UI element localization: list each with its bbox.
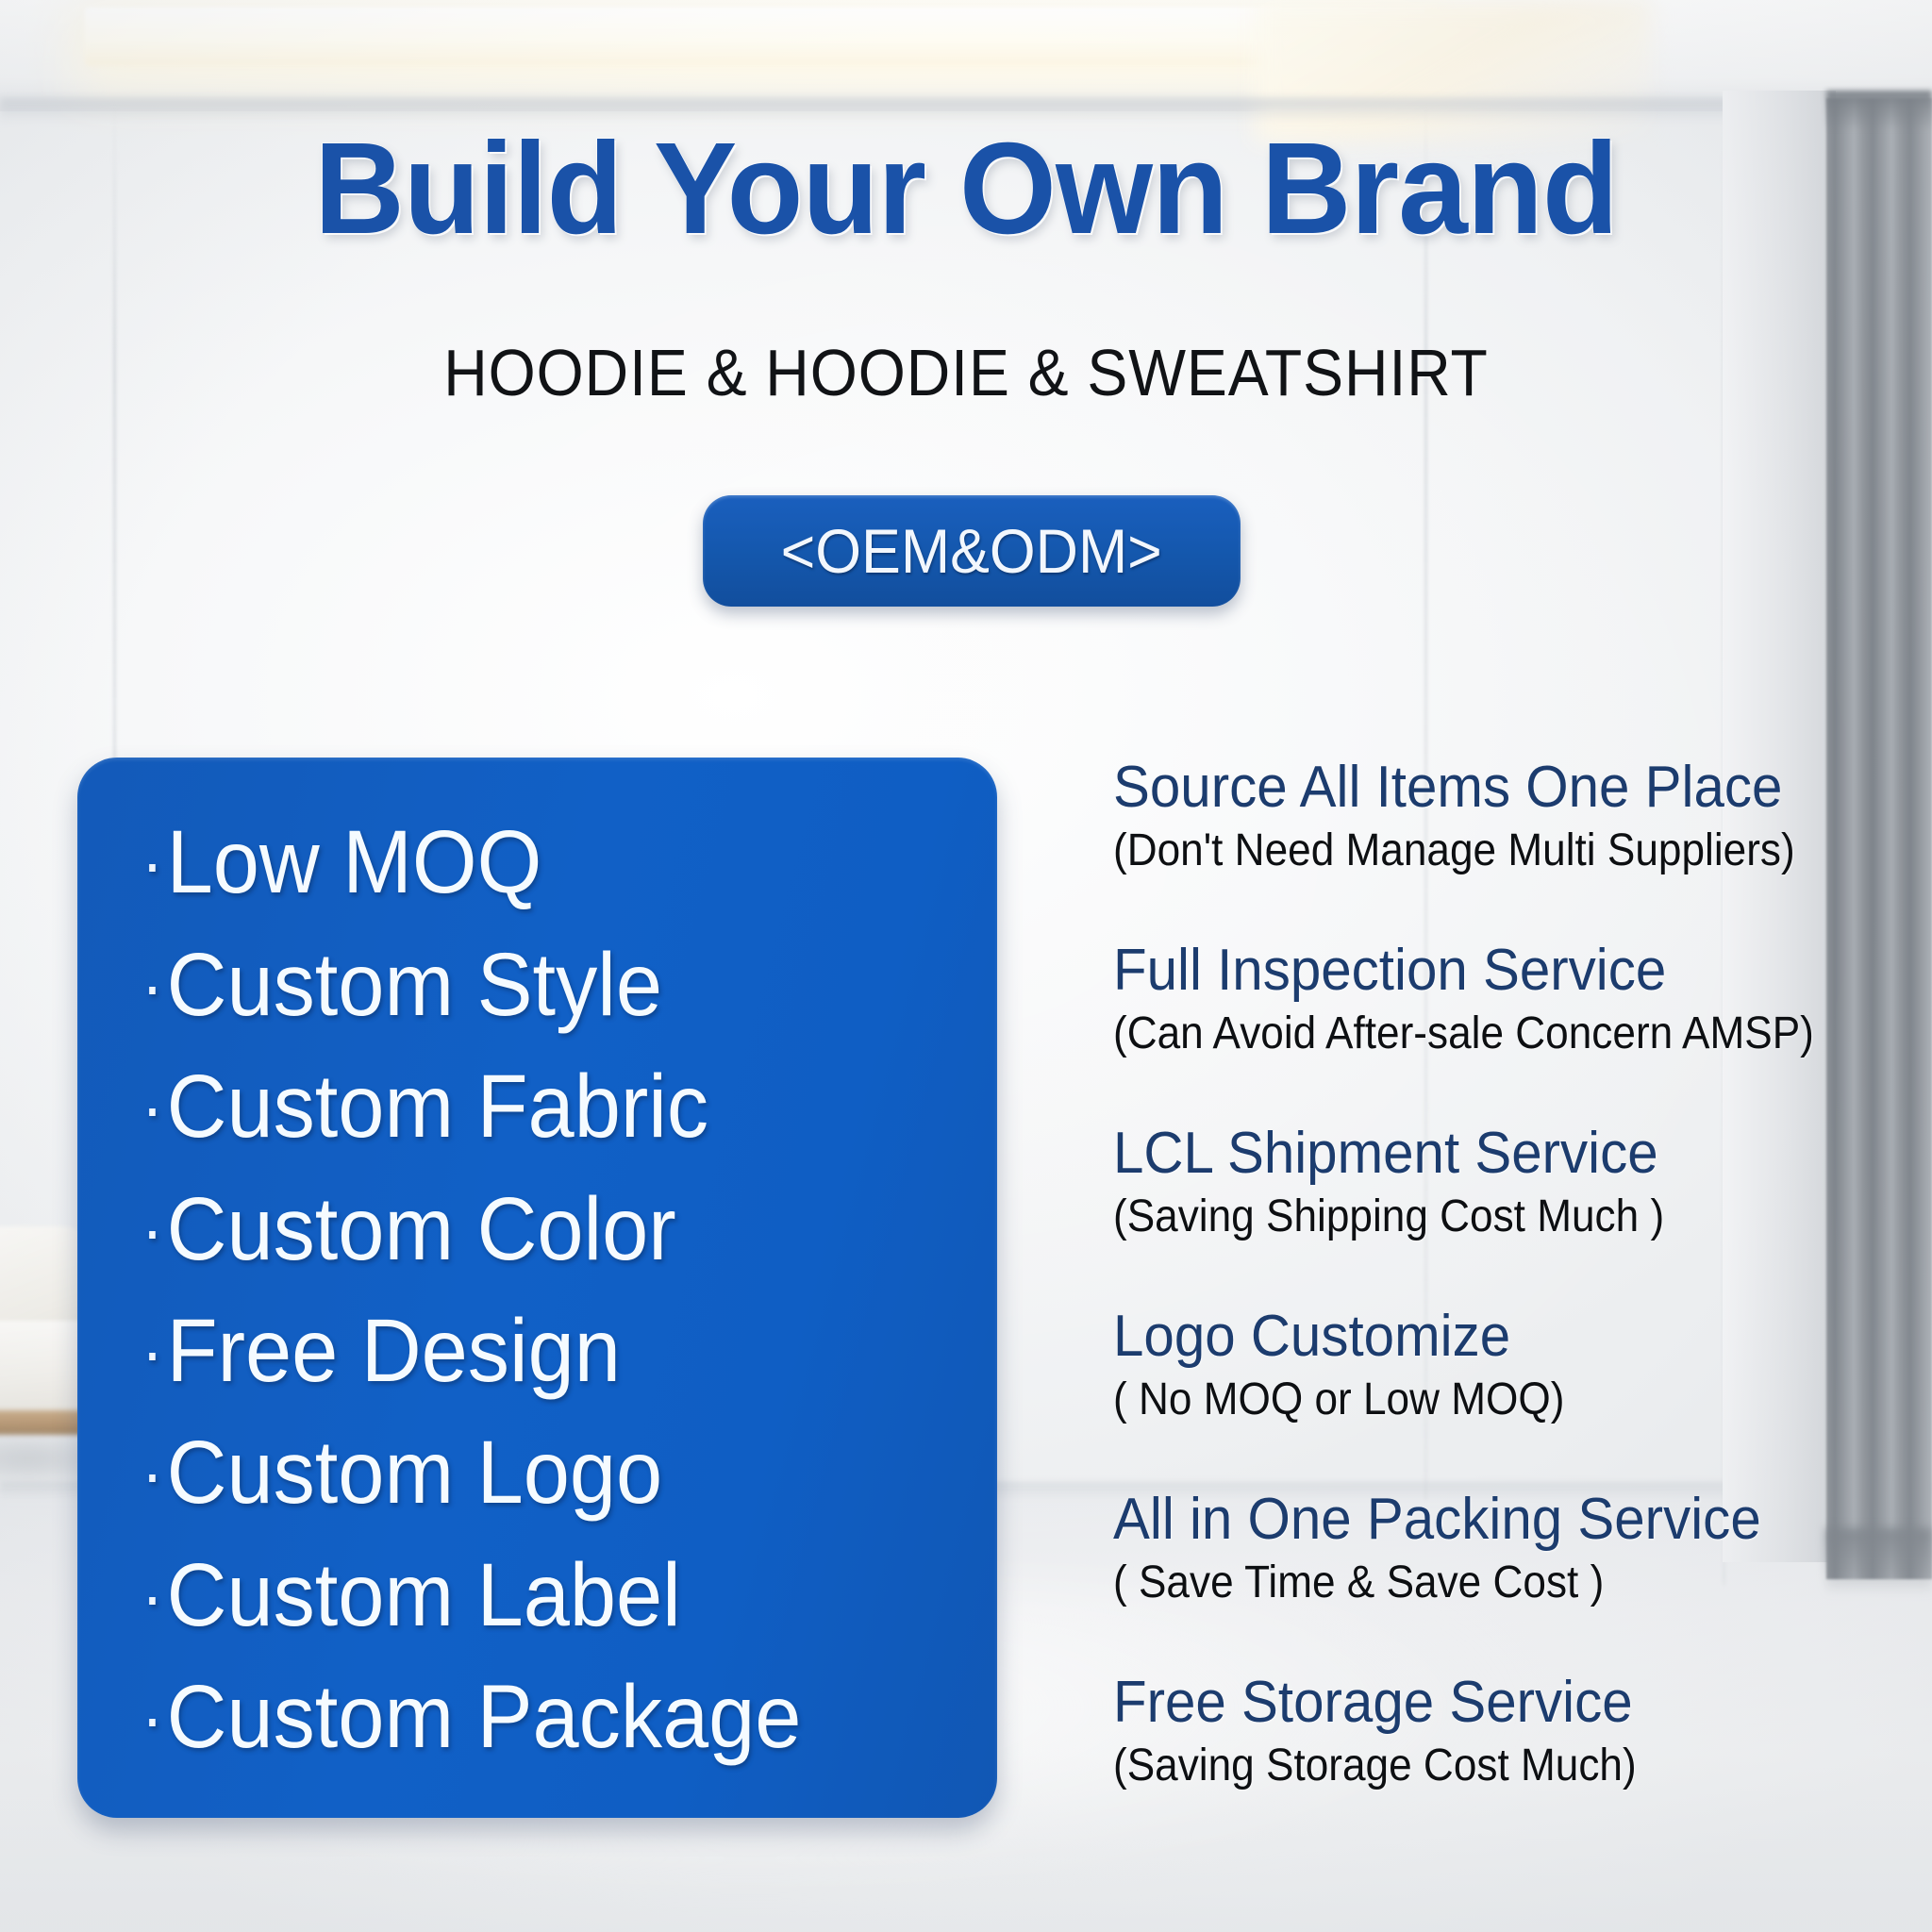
list-item: · Custom Label <box>142 1537 888 1655</box>
list-item-label: Custom Fabric <box>167 1048 708 1166</box>
list-item-label: Custom Package <box>167 1658 802 1776</box>
headline: Build Your Own Brand <box>39 121 1893 258</box>
list-item-label: Custom Style <box>167 926 662 1044</box>
service-subtitle: ( No MOQ or Low MOQ) <box>1113 1373 1824 1428</box>
service-title: LCL Shipment Service <box>1113 1121 1840 1186</box>
service-item: LCL Shipment Service (Saving Shipping Co… <box>1113 1121 1887 1245</box>
service-subtitle: (Don't Need Manage Multi Suppliers) <box>1113 824 1824 879</box>
list-item-label: Custom Label <box>167 1537 681 1655</box>
list-item: · Custom Style <box>142 926 888 1044</box>
service-item: Source All Items One Place (Don't Need M… <box>1113 755 1887 879</box>
service-title: Source All Items One Place <box>1113 755 1840 820</box>
service-title: Free Storage Service <box>1113 1670 1840 1735</box>
list-item: · Custom Package <box>142 1658 888 1776</box>
service-title: Logo Customize <box>1113 1304 1840 1369</box>
service-subtitle: ( Save Time & Save Cost ) <box>1113 1556 1824 1611</box>
oem-odm-badge-label: <OEM&ODM> <box>781 515 1162 587</box>
bullet-dot-icon: · <box>142 1672 163 1764</box>
bullet-dot-icon: · <box>142 1550 163 1642</box>
bullet-dot-icon: · <box>142 940 163 1032</box>
list-item-label: Low MOQ <box>167 804 542 922</box>
list-item: · Custom Logo <box>142 1414 888 1532</box>
bullet-dot-icon: · <box>142 817 163 909</box>
subheadline: HOODIE & HOODIE & SWEATSHIRT <box>77 335 1855 410</box>
service-title: Full Inspection Service <box>1113 938 1840 1003</box>
bullet-dot-icon: · <box>142 1184 163 1276</box>
service-item: All in One Packing Service ( Save Time &… <box>1113 1487 1887 1611</box>
list-item: · Free Design <box>142 1292 888 1410</box>
poster-content: Build Your Own Brand HOODIE & HOODIE & S… <box>0 0 1932 1932</box>
list-item-label: Custom Logo <box>167 1414 662 1532</box>
bullet-dot-icon: · <box>142 1306 163 1398</box>
bullet-dot-icon: · <box>142 1427 163 1520</box>
bullet-dot-icon: · <box>142 1061 163 1154</box>
list-item-label: Custom Color <box>167 1171 676 1289</box>
service-title: All in One Packing Service <box>1113 1487 1840 1552</box>
service-item: Free Storage Service (Saving Storage Cos… <box>1113 1670 1887 1794</box>
service-item: Logo Customize ( No MOQ or Low MOQ) <box>1113 1304 1887 1428</box>
service-subtitle: (Saving Shipping Cost Much ) <box>1113 1190 1824 1245</box>
list-item: · Low MOQ <box>142 804 888 922</box>
capabilities-list: · Low MOQ · Custom Style · Custom Fabric… <box>142 776 943 1805</box>
service-subtitle: (Saving Storage Cost Much) <box>1113 1739 1824 1794</box>
services-list: Source All Items One Place (Don't Need M… <box>1113 755 1887 1853</box>
list-item: · Custom Color <box>142 1171 888 1289</box>
list-item-label: Free Design <box>167 1292 621 1410</box>
service-subtitle: (Can Avoid After-sale Concern AMSP) <box>1113 1007 1824 1062</box>
service-item: Full Inspection Service (Can Avoid After… <box>1113 938 1887 1062</box>
list-item: · Custom Fabric <box>142 1048 888 1166</box>
promo-poster: Build Your Own Brand HOODIE & HOODIE & S… <box>0 0 1932 1932</box>
oem-odm-badge[interactable]: <OEM&ODM> <box>703 495 1241 607</box>
